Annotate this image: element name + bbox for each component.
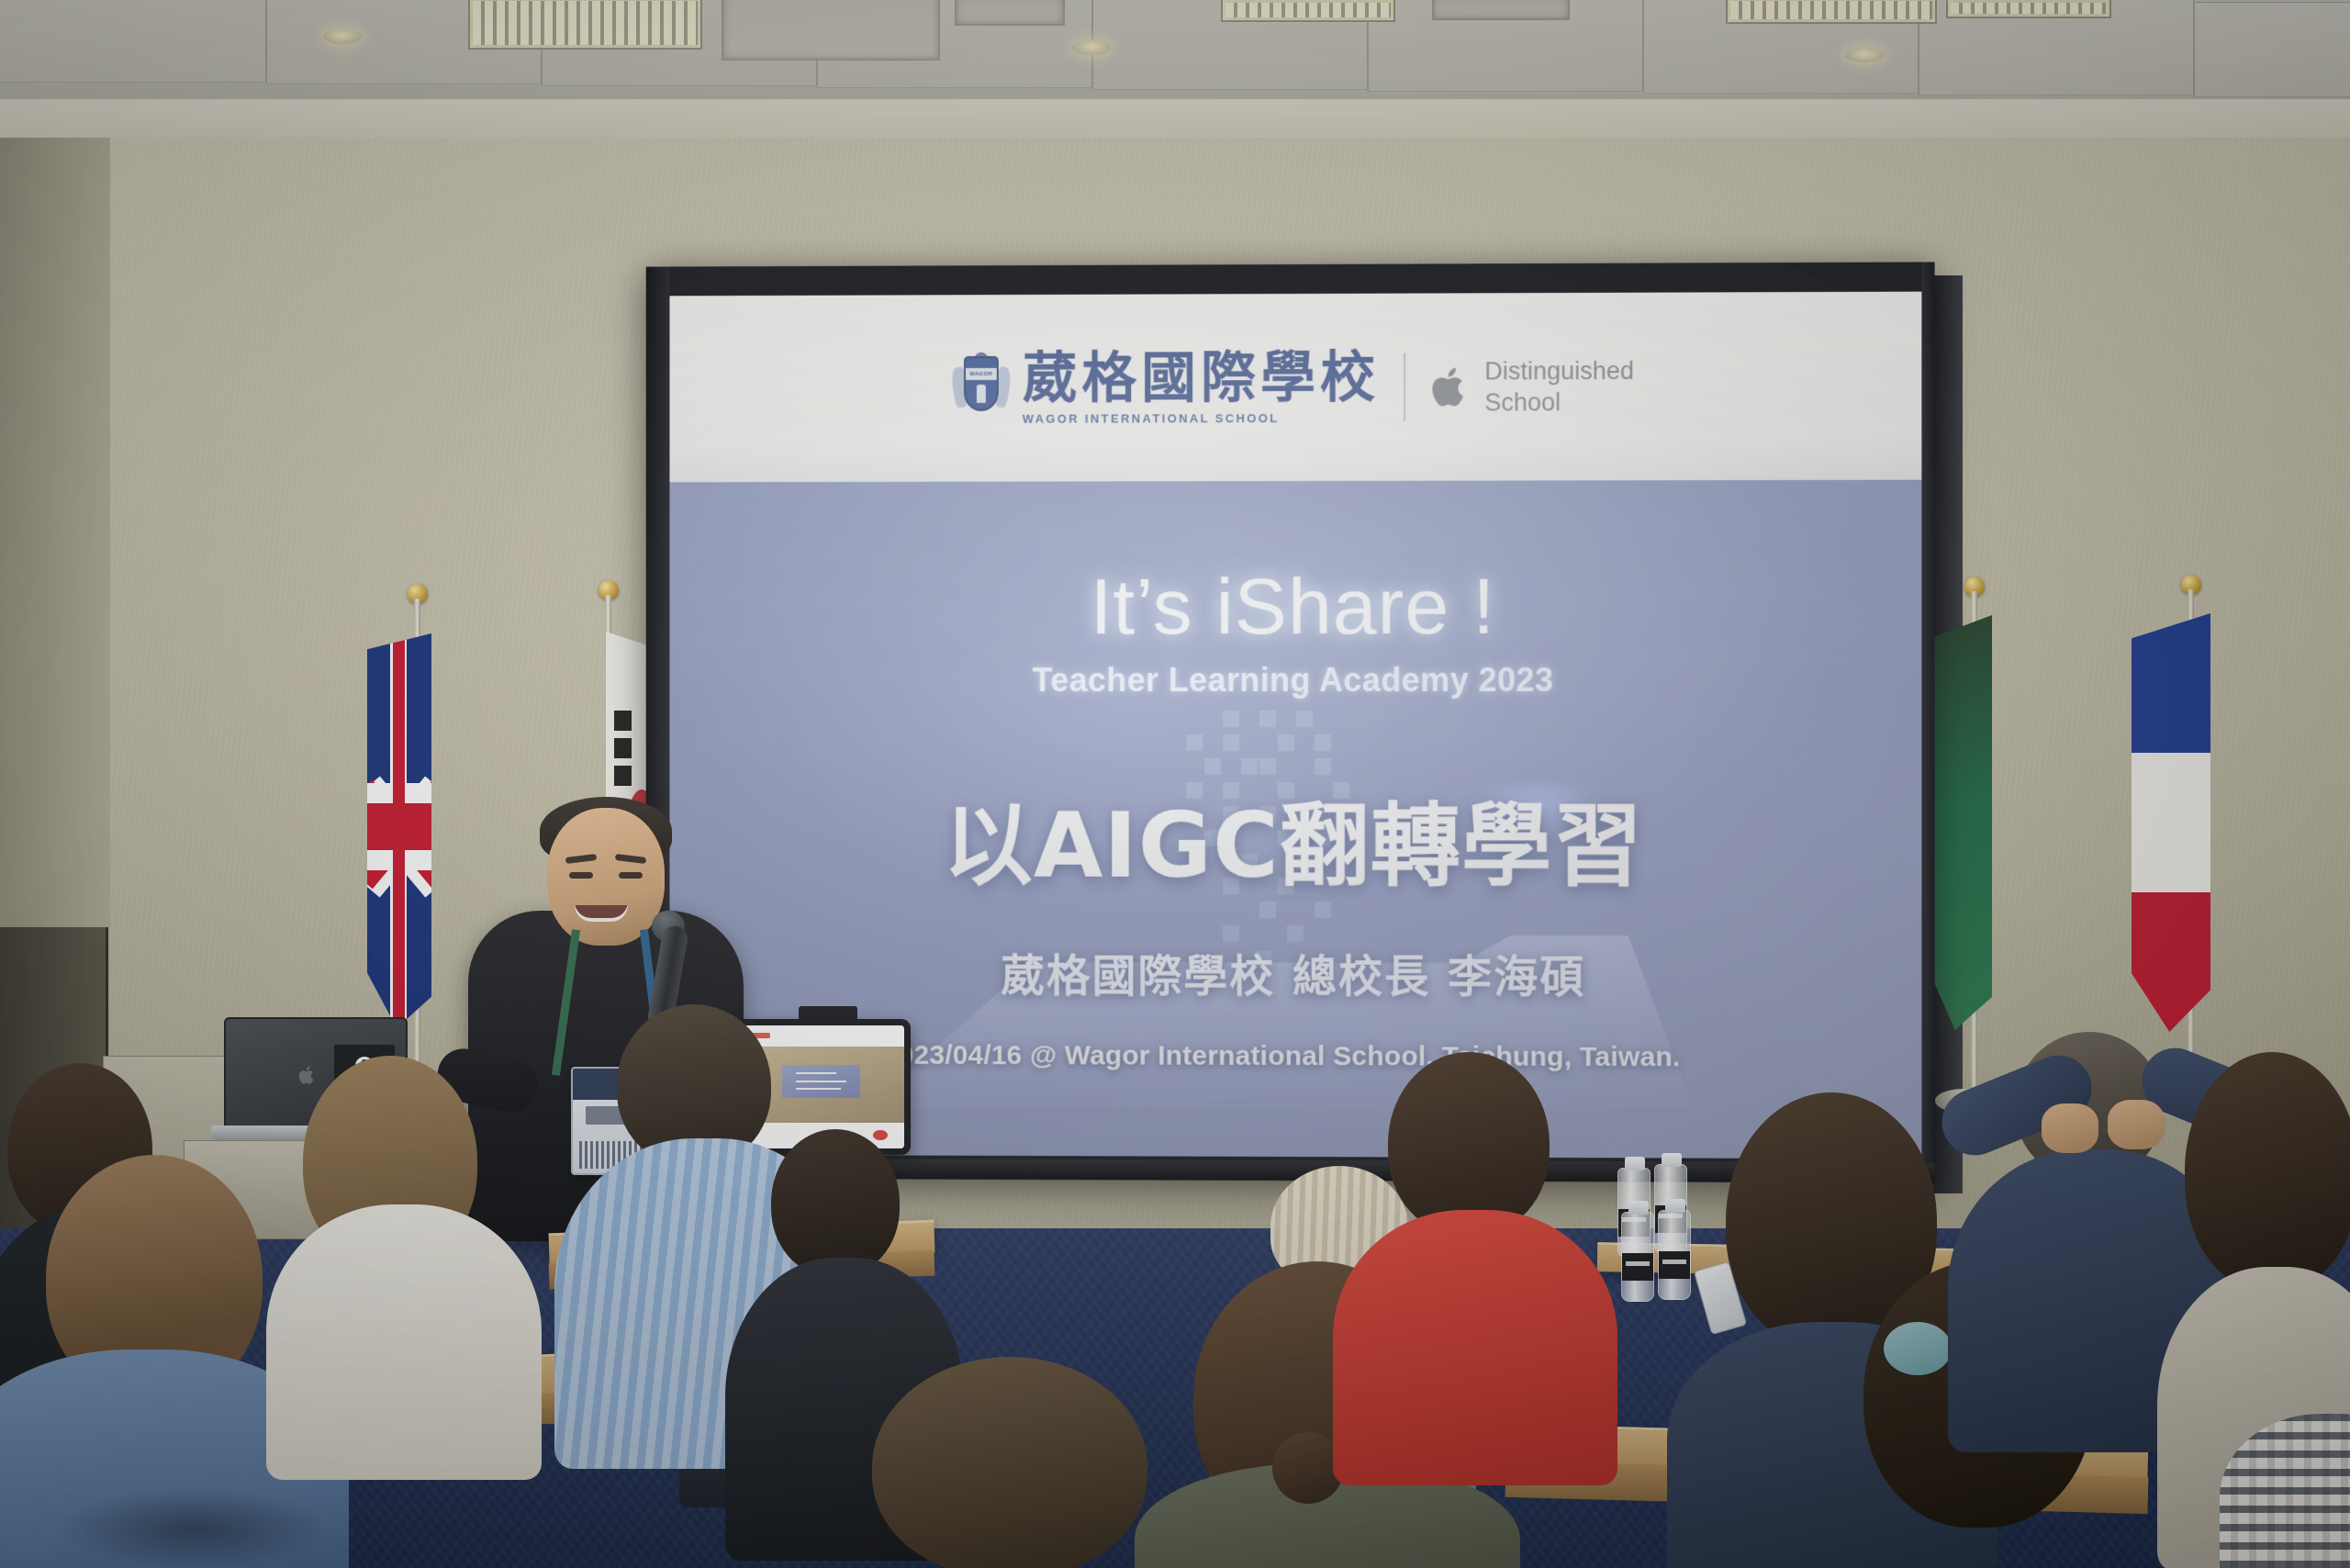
apple-line-2: School: [1484, 386, 1634, 419]
hair-scrunchie: [1884, 1322, 1952, 1375]
wagor-crest-icon: WAGOR: [953, 353, 1010, 424]
torso: [266, 1204, 542, 1480]
slide-headline-cn: 以AIGC翻轉學習: [669, 773, 1921, 904]
apple-logo-icon: [1429, 361, 1472, 412]
recessed-downlight: [1072, 40, 1111, 55]
wagor-logo-lockup: WAGOR 葳格國際學校 WAGOR INTERNATIONAL SCHOOL: [953, 350, 1380, 425]
water-bottle: [1658, 1210, 1691, 1300]
united-kingdom-flag: [367, 633, 431, 1028]
presentation-photo-scene: WAGOR 葳格國際學校 WAGOR INTERNATIONAL SCHOOL: [0, 0, 2350, 1568]
logo-divider: [1404, 353, 1405, 421]
slide-presenter-line: 葳格國際學校 總校長 李海碩: [669, 939, 1921, 1006]
fluorescent-light-panel: [468, 0, 702, 50]
head: [2185, 1052, 2350, 1291]
slide-subtitle: Teacher Learning Academy 2023: [669, 661, 1921, 700]
hvac-vent: [1432, 0, 1570, 20]
recessed-downlight: [323, 29, 362, 44]
apple-distinguished-school-lockup: Distinguished School: [1429, 355, 1634, 419]
apple-distinguished-school-text: Distinguished School: [1484, 355, 1634, 419]
recessed-downlight: [1845, 48, 1884, 62]
hvac-vent: [955, 0, 1065, 26]
torso: [1333, 1210, 1617, 1485]
water-bottle: [1621, 1212, 1654, 1302]
fluorescent-light-panel: [1221, 0, 1395, 22]
france-flag: [2132, 613, 2210, 1032]
left-hand: [2042, 1103, 2098, 1153]
apple-line-1: Distinguished: [1484, 355, 1634, 387]
slide-header-bar: WAGOR 葳格國際學校 WAGOR INTERNATIONAL SCHOOL: [669, 292, 1921, 483]
hvac-vent: [722, 0, 940, 61]
presenter-head: [547, 808, 665, 946]
screen-frame-right: [1921, 262, 1934, 1182]
crest-banner-text: WAGOR: [966, 368, 997, 380]
slide-title: It’s iShare !: [669, 561, 1921, 653]
ceiling: [0, 0, 2350, 110]
head: [872, 1357, 1147, 1568]
school-name-cn: 葳格國際學校: [1023, 350, 1380, 406]
right-hand: [2108, 1100, 2165, 1149]
apple-logo-icon: [297, 1063, 318, 1087]
presenter-mouth: [575, 905, 628, 922]
school-name-en: WAGOR INTERNATIONAL SCHOOL: [1023, 410, 1380, 425]
fluorescent-light-panel: [1726, 0, 1937, 24]
head: [771, 1129, 900, 1276]
fluorescent-light-panel: [1946, 0, 2111, 18]
green-flag: [1926, 615, 1992, 1030]
head: [1388, 1052, 1550, 1236]
